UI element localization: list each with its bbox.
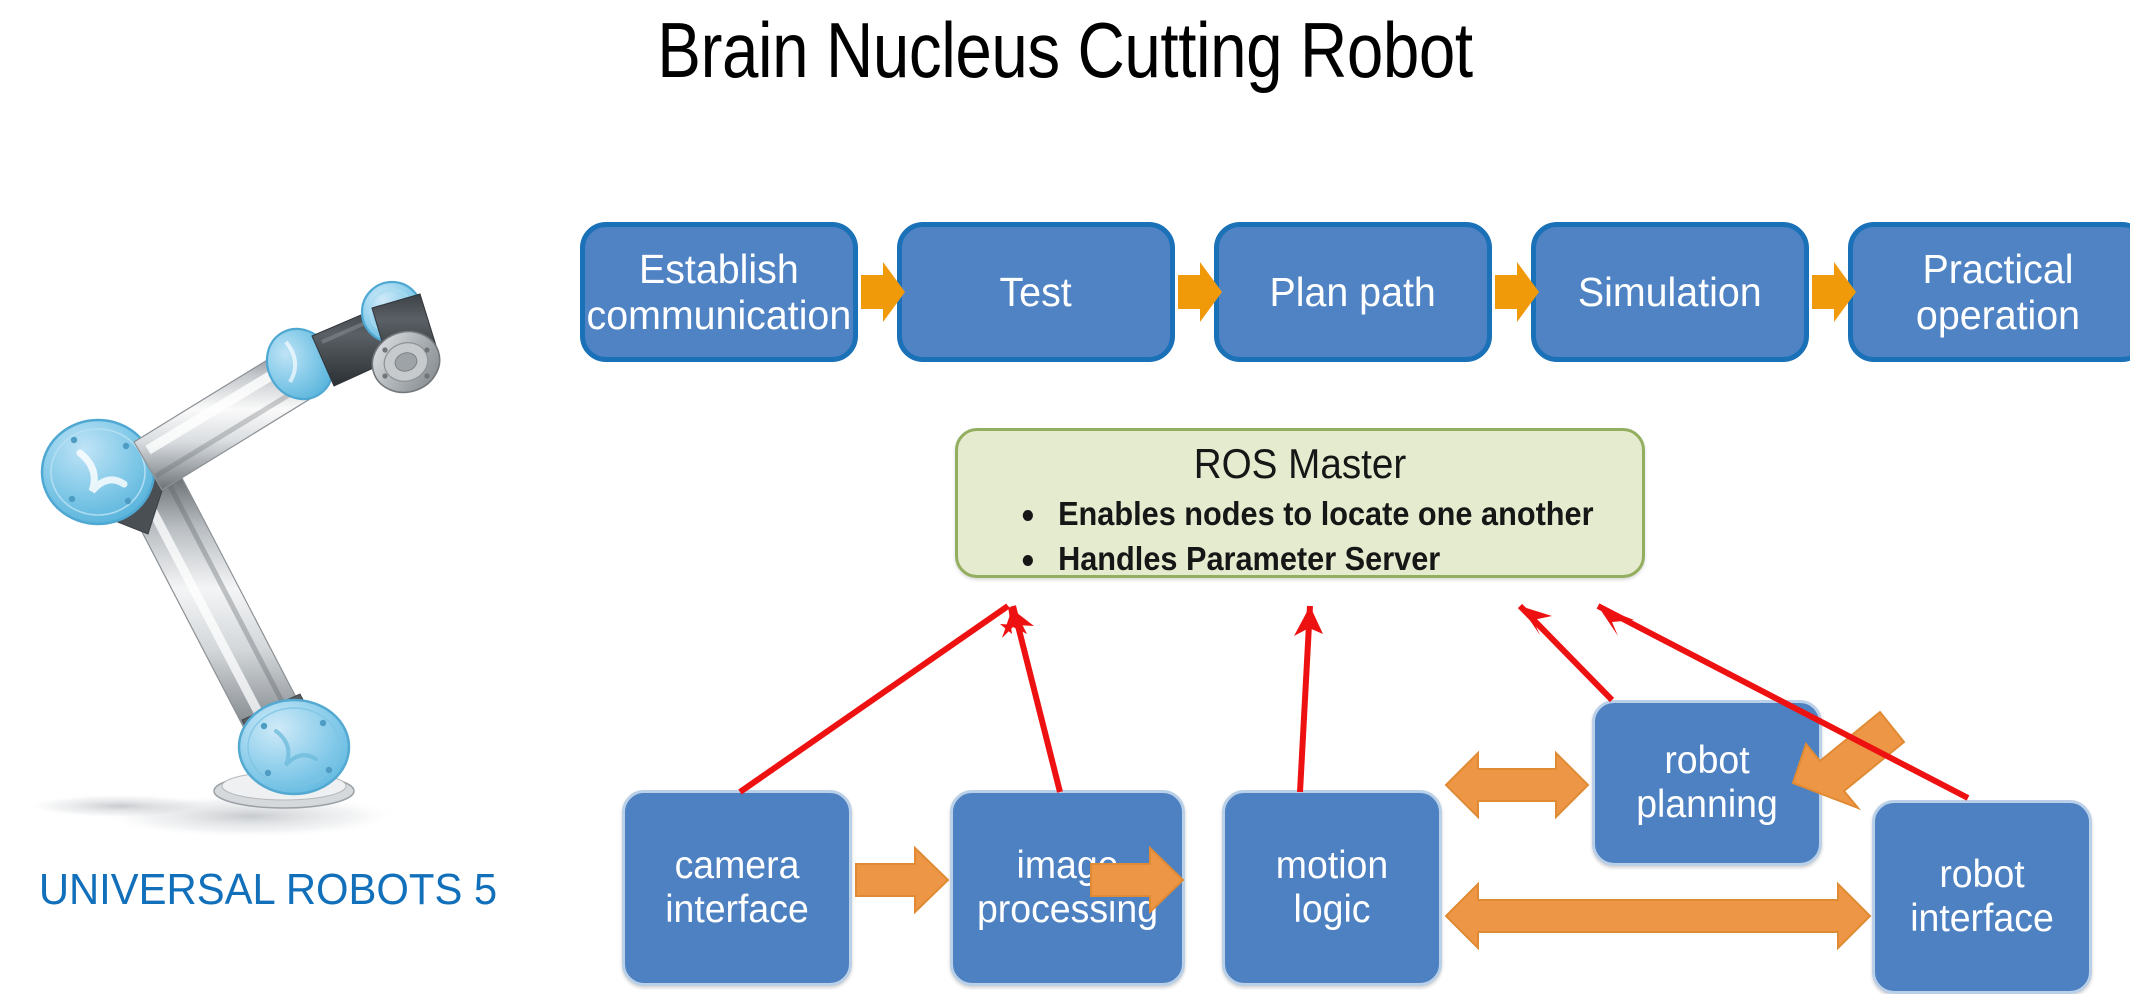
- node-robot-planning[interactable]: robot planning: [1592, 700, 1822, 866]
- pipeline-step-label: Practical operation: [1859, 246, 2130, 338]
- pipeline-step-simulation[interactable]: Simulation: [1531, 222, 1809, 362]
- ros-connection-arrowheads: [1000, 606, 1634, 638]
- node-motion-logic[interactable]: motion logic: [1222, 790, 1442, 986]
- node-robot-interface[interactable]: robot interface: [1872, 800, 2092, 994]
- ros-master-bullet: Handles Parameter Server: [1006, 536, 1597, 581]
- arrow-motion-planning-double-icon: [1446, 753, 1588, 817]
- node-label: camera interface: [629, 844, 844, 932]
- pipeline-step-label: Establish communication: [581, 246, 857, 338]
- red-line-image-to-ros: [1013, 606, 1060, 792]
- pipeline-step-test[interactable]: Test: [897, 222, 1175, 362]
- pipeline-step-practical-operation[interactable]: Practical operation: [1848, 222, 2130, 362]
- node-camera-interface[interactable]: camera interface: [622, 790, 852, 986]
- pipeline-step-plan-path[interactable]: Plan path: [1214, 222, 1492, 362]
- red-line-motion-to-ros: [1300, 606, 1310, 792]
- node-image-processing[interactable]: image processing: [950, 790, 1185, 986]
- ur5-robot-arm-image: [0, 250, 460, 850]
- red-arrowhead-camera-icon: [1000, 606, 1034, 634]
- red-line-planning-to-ros: [1520, 606, 1612, 700]
- node-label: robot interface: [1879, 853, 2084, 941]
- pipeline-step-establish-communication[interactable]: Establish communication: [580, 222, 858, 362]
- red-arrowhead-planning-icon: [1520, 606, 1552, 635]
- robot-caption: UNIVERSAL ROBOTS 5: [21, 864, 515, 916]
- ros-master-title: ROS Master: [985, 439, 1614, 489]
- pipeline-step-label: Plan path: [1264, 269, 1442, 315]
- robot-floor-shadow-2: [25, 794, 215, 818]
- ros-master-bullet-list: Enables nodes to locate one another Hand…: [958, 491, 1642, 581]
- red-arrowhead-interface-icon: [1598, 606, 1634, 636]
- arrow-motion-interface-double-icon: [1446, 884, 1870, 948]
- node-label: motion logic: [1229, 844, 1434, 932]
- slide-canvas: Brain Nucleus Cutting Robot: [0, 0, 2130, 994]
- red-arrowhead-image-icon: [1002, 606, 1027, 638]
- pipeline-step-label: Test: [994, 269, 1078, 315]
- arrow-camera-to-image-icon: [856, 848, 948, 912]
- node-label: robot planning: [1599, 739, 1814, 827]
- ros-master-box[interactable]: ROS Master Enables nodes to locate one a…: [955, 428, 1645, 578]
- node-label: image processing: [958, 844, 1178, 932]
- page-title: Brain Nucleus Cutting Robot: [170, 2, 1959, 98]
- red-arrowhead-motion-icon: [1294, 606, 1323, 636]
- pipeline-step-label: Simulation: [1572, 269, 1767, 315]
- ros-master-bullet: Enables nodes to locate one another: [1006, 491, 1597, 536]
- red-line-camera-to-ros: [740, 606, 1008, 792]
